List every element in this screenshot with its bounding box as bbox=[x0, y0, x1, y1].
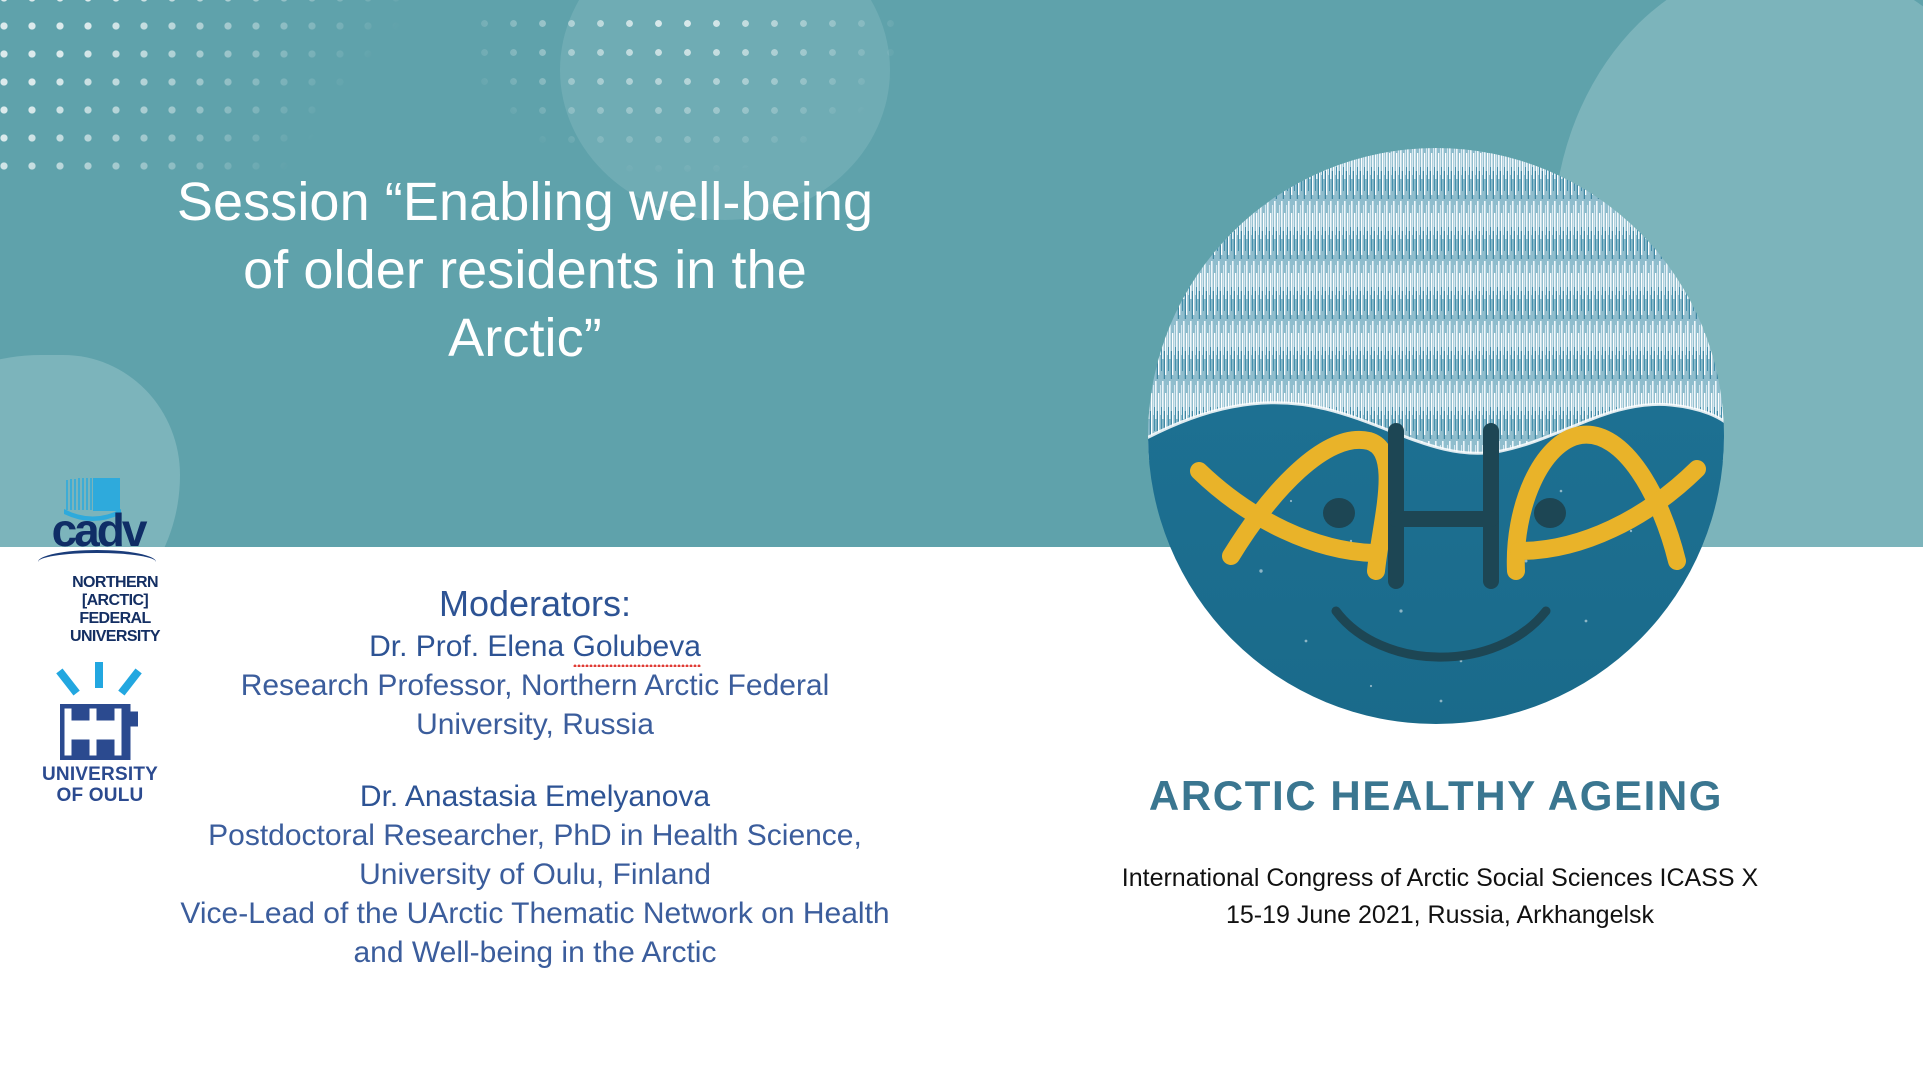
moderator-1-name-prefix: Dr. Prof. Elena bbox=[369, 630, 572, 663]
aha-wordmark: ARCTIC HEALTHY AGEING bbox=[1141, 772, 1731, 820]
oulu-wordmark-line-2: OF OULU bbox=[22, 785, 178, 806]
castle-crown-icon bbox=[60, 704, 138, 760]
light-rays-icon bbox=[56, 660, 142, 700]
partner-logo-column: cadv NORTHERN [ARCTIC] FEDERAL UNIVERSIT… bbox=[22, 470, 172, 805]
moderator-entry-1: Dr. Prof. Elena Golubeva Research Profes… bbox=[170, 628, 900, 744]
university-of-oulu-logo: UNIVERSITY OF OULU bbox=[22, 660, 172, 805]
moderator-2-affiliation-line-4: and Well-being in the Arctic bbox=[170, 933, 900, 972]
moderator-2-affiliation-line-2: University of Oulu, Finland bbox=[170, 855, 900, 894]
conference-info: International Congress of Arctic Social … bbox=[1060, 860, 1820, 934]
moderator-1-name: Dr. Prof. Elena Golubeva bbox=[369, 628, 701, 666]
moderator-1-affiliation-line-1: Research Professor, Northern Arctic Fede… bbox=[170, 666, 900, 705]
title-line-2: of older residents in the bbox=[120, 236, 930, 304]
narfu-line-3: FEDERAL bbox=[50, 610, 180, 628]
moderator-1-affiliation-line-2: University, Russia bbox=[170, 705, 900, 744]
eye-left-icon bbox=[1323, 498, 1355, 528]
presentation-slide: Session “Enabling well-being of older re… bbox=[0, 0, 1923, 1073]
conference-info-line-1: International Congress of Arctic Social … bbox=[1060, 860, 1820, 897]
narfu-line-4: UNIVERSITY bbox=[50, 628, 180, 646]
eye-right-icon bbox=[1534, 498, 1566, 528]
narfu-line-1: NORTHERN bbox=[50, 574, 180, 592]
moderator-entry-2: Dr. Anastasia Emelyanova Postdoctoral Re… bbox=[170, 778, 900, 972]
narfu-logo: NORTHERN [ARCTIC] FEDERAL UNIVERSITY bbox=[22, 572, 172, 650]
narfu-line-2: [ARCTIC] bbox=[50, 592, 180, 610]
title-line-1: Session “Enabling well-being bbox=[120, 168, 930, 236]
moderator-2-name: Dr. Anastasia Emelyanova bbox=[360, 778, 710, 816]
slide-title: Session “Enabling well-being of older re… bbox=[120, 168, 930, 372]
oulu-wordmark: UNIVERSITY OF OULU bbox=[22, 764, 178, 806]
moderator-2-affiliation-line-3: Vice-Lead of the UArctic Thematic Networ… bbox=[170, 894, 900, 933]
cadv-wordmark: cadv bbox=[30, 506, 166, 554]
cadv-logo: cadv bbox=[22, 470, 172, 570]
dot-pattern-top-left bbox=[0, 0, 550, 184]
moderator-1-name-surname: Golubeva bbox=[573, 628, 701, 666]
moderators-block: Moderators: Dr. Prof. Elena Golubeva Res… bbox=[170, 582, 900, 972]
arctic-healthy-ageing-logo bbox=[1141, 141, 1731, 731]
moderator-spacer bbox=[170, 744, 900, 778]
title-line-3: Arctic” bbox=[120, 304, 930, 372]
moderators-heading: Moderators: bbox=[170, 582, 900, 626]
moderator-2-affiliation-line-1: Postdoctoral Researcher, PhD in Health S… bbox=[170, 816, 900, 855]
conference-info-line-2: 15-19 June 2021, Russia, Arkhangelsk bbox=[1060, 897, 1820, 934]
oulu-wordmark-line-1: UNIVERSITY bbox=[22, 764, 178, 785]
